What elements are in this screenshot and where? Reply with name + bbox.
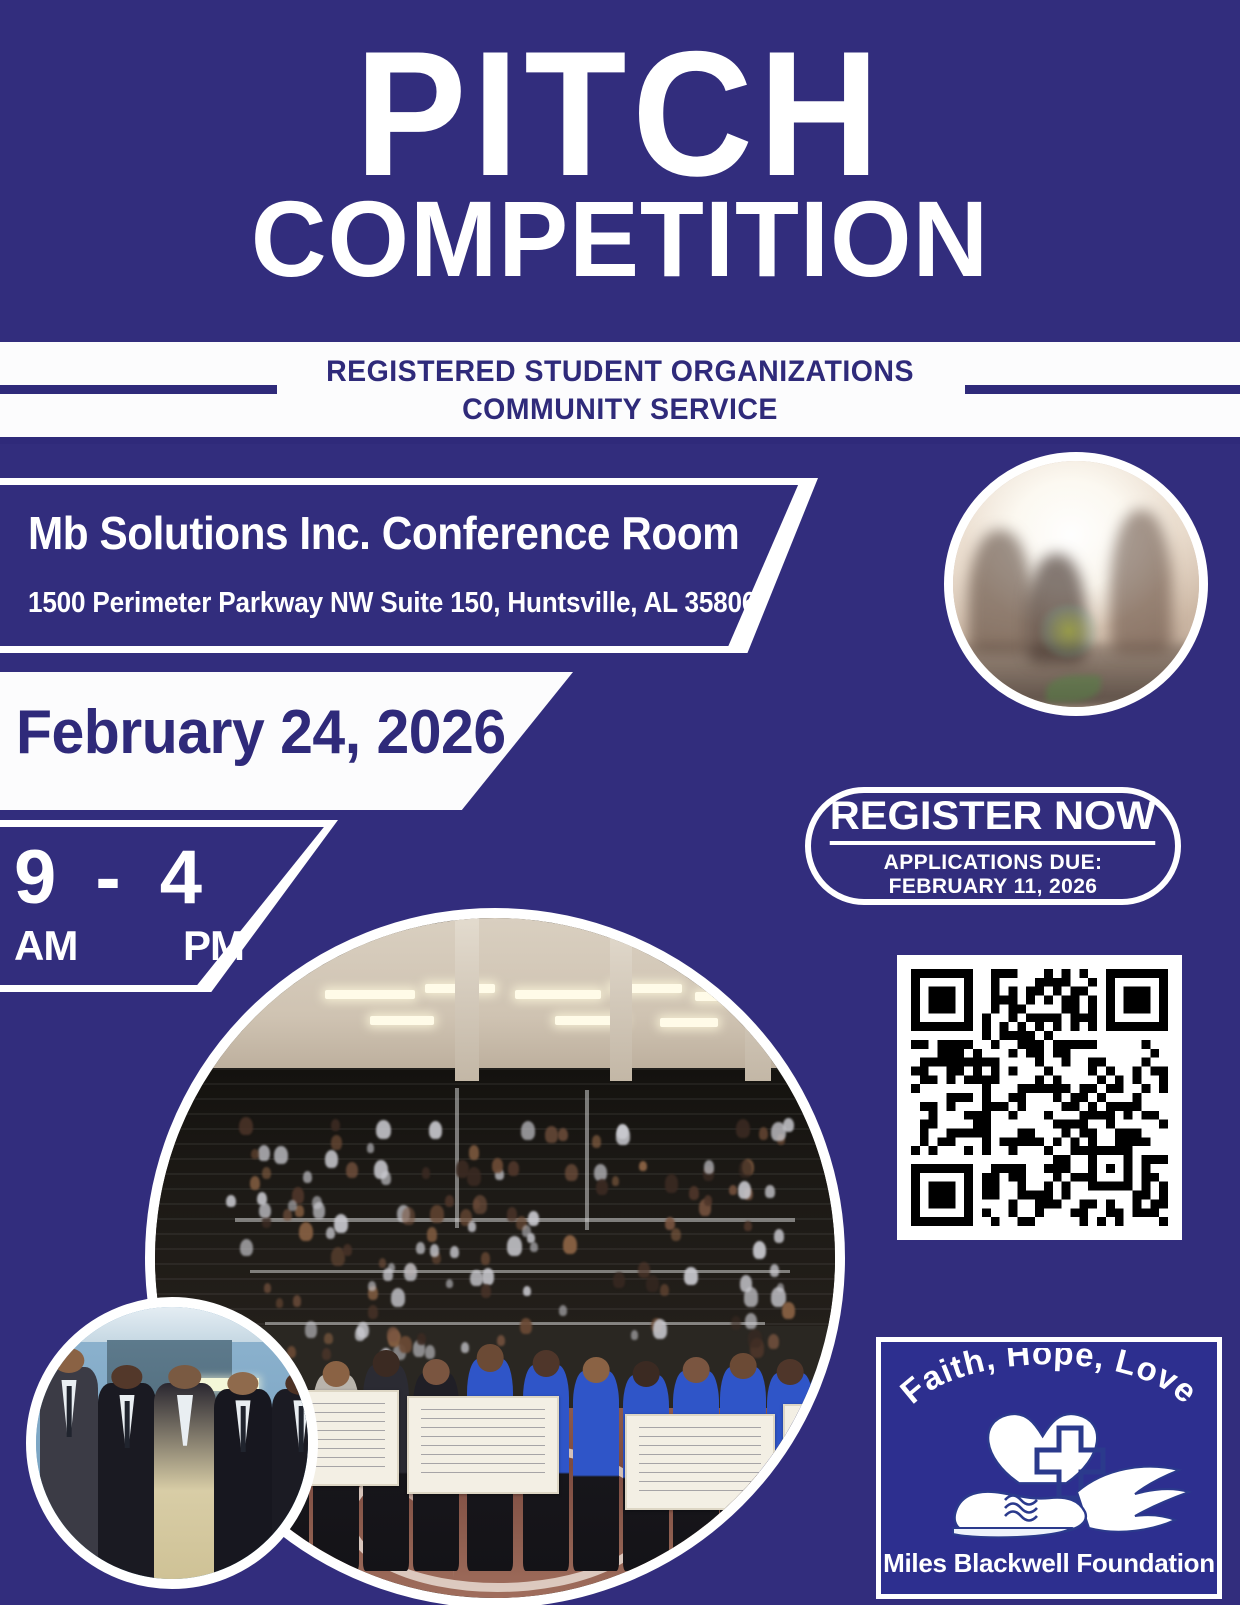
photo-spectator: [744, 1287, 759, 1307]
photo-spectator: [417, 1333, 426, 1345]
photo-spectator: [660, 1284, 669, 1296]
photo-person: [214, 1389, 272, 1579]
photo-spectator: [563, 1235, 577, 1254]
photo-spectator: [507, 1236, 522, 1256]
photo-spectator: [367, 1143, 374, 1153]
photo-spectator: [402, 1207, 415, 1225]
photo-spectator: [404, 1263, 417, 1281]
photo-oversized-check: [783, 1404, 845, 1500]
photo-spectator: [731, 1316, 741, 1330]
qr-code[interactable]: [897, 955, 1182, 1240]
photo-column: [745, 918, 771, 1081]
photo-spectator: [736, 1119, 750, 1138]
photo-participant-head: [683, 1357, 710, 1383]
photo-participant-head: [777, 1359, 804, 1385]
photo-check-writing: [639, 1427, 762, 1497]
photo-spectator: [325, 1150, 338, 1168]
photo-oversized-check: [625, 1414, 775, 1510]
subtitle-line-1: REGISTERED STUDENT ORGANIZATIONS: [31, 353, 1209, 391]
photo-spectator: [387, 1327, 398, 1342]
photo-spectator: [312, 1196, 322, 1209]
photo-spectator: [545, 1126, 558, 1143]
event-date: February 24, 2026: [16, 698, 506, 768]
photo-spectator: [631, 1330, 638, 1340]
photo-spectator: [274, 1146, 288, 1164]
photo-spectator: [430, 1205, 443, 1223]
photo-person-head: [111, 1365, 142, 1389]
venue-block: Mb Solutions Inc. Conference Room 1500 P…: [0, 478, 818, 653]
band-bottom-divider: [0, 437, 1240, 444]
photo-lens-flare: [1037, 604, 1101, 658]
photo-handrail: [455, 1088, 459, 1228]
photo-spectator: [430, 1244, 439, 1257]
subtitle-band: REGISTERED STUDENT ORGANIZATIONS COMMUNI…: [0, 342, 1240, 443]
photo-spectator: [646, 1275, 659, 1292]
photo-spectator: [250, 1176, 260, 1190]
photo-spectator: [745, 1313, 757, 1330]
photo-spectator: [521, 1121, 535, 1140]
applications-due-label: APPLICATIONS DUE:: [884, 851, 1103, 875]
photo-participant-head: [817, 1361, 844, 1386]
photo-person-tie: [125, 1401, 130, 1448]
photo-spectator: [251, 1149, 259, 1159]
conference-room-photo: [944, 452, 1208, 716]
photo-ceiling-light: [660, 1018, 718, 1027]
page-title-secondary: COMPETITION: [19, 185, 1222, 293]
photo-spectator: [638, 1262, 650, 1278]
photo-spectator: [774, 1229, 784, 1242]
photo-spectator: [508, 1161, 520, 1177]
photo-spectator: [469, 1145, 480, 1159]
photo-spectator: [425, 1345, 436, 1359]
photo-spectator: [592, 1135, 601, 1148]
photo-spectator: [391, 1288, 405, 1307]
qr-code-canvas: [911, 969, 1168, 1226]
photo-spectator: [771, 1122, 785, 1142]
photo-spectator: [446, 1279, 453, 1289]
photo-spectator: [379, 1258, 387, 1268]
applications-due-date: FEBRUARY 11, 2026: [889, 875, 1098, 899]
photo-spectator: [507, 1207, 517, 1221]
photo-spectator: [331, 1135, 342, 1151]
photo-spectator: [738, 1181, 751, 1199]
photo-spectator: [388, 1263, 395, 1273]
photo-participant-head: [533, 1350, 560, 1377]
photo-participant-head: [843, 1361, 845, 1386]
photo-participant-head: [730, 1353, 757, 1380]
flyer-canvas: PITCH COMPETITION REGISTERED STUDENT ORG…: [0, 0, 1240, 1605]
photo-spectator: [671, 1228, 681, 1242]
photo-spectator: [704, 1195, 712, 1206]
photo-spectator: [520, 1318, 532, 1334]
photo-column: [610, 918, 632, 1081]
foundation-logo: Faith, Hope, Love Miles Blackwell Founda…: [876, 1337, 1222, 1599]
photo-participant-head: [423, 1359, 450, 1385]
photo-participant-head: [477, 1344, 504, 1372]
photo-spectator: [467, 1167, 481, 1186]
photo-spectator: [376, 1120, 391, 1140]
photo-spectator: [482, 1268, 494, 1285]
photo-ceiling-light: [325, 990, 415, 999]
photo-spectator: [768, 1334, 779, 1349]
photo-spectator: [497, 1335, 505, 1346]
photo-spectator: [299, 1222, 313, 1241]
photo-column: [455, 918, 479, 1081]
subtitle-line-2: COMMUNITY SERVICE: [31, 391, 1209, 429]
photo-participant-head: [323, 1361, 350, 1386]
conference-room-photo-scene: [953, 461, 1199, 707]
photo-spectator: [481, 1252, 491, 1265]
photo-person-tie: [241, 1406, 246, 1452]
photo-spectator: [293, 1295, 302, 1307]
photo-spectator: [461, 1342, 469, 1353]
photo-oversized-check: [407, 1396, 559, 1494]
photo-spectator: [753, 1241, 766, 1259]
photo-handrail: [250, 1270, 790, 1273]
photo-spectator: [368, 1305, 378, 1319]
team-portrait-photo: [26, 1297, 318, 1589]
photo-spectator: [334, 1214, 348, 1233]
photo-spectator: [429, 1121, 442, 1139]
photo-spectator: [262, 1167, 271, 1179]
photo-spectator: [612, 1176, 619, 1186]
photo-spectator: [240, 1239, 253, 1257]
photo-spectator: [527, 1233, 534, 1243]
photo-spectator: [368, 1281, 376, 1292]
photo-person: [40, 1367, 98, 1579]
photo-spectator: [324, 1333, 332, 1344]
photo-spectator: [739, 1160, 753, 1179]
photo-ceiling: [36, 1307, 308, 1342]
photo-spectator: [528, 1211, 539, 1225]
photo-person-head: [168, 1365, 201, 1389]
photo-spectator: [653, 1319, 668, 1339]
photo-spectator: [257, 1192, 267, 1205]
photo-spectator: [322, 1348, 331, 1360]
photo-figure: [968, 530, 1032, 653]
photo-spectator: [559, 1305, 567, 1316]
photo-person-head: [227, 1372, 258, 1395]
venue-address: 1500 Perimeter Parkway NW Suite 150, Hun…: [28, 587, 756, 619]
photo-spectator: [239, 1117, 253, 1135]
hero-header: PITCH COMPETITION: [0, 0, 1240, 342]
photo-spectator: [450, 1246, 459, 1258]
photo-spectator: [381, 1171, 391, 1184]
photo-check-writing: [421, 1409, 545, 1480]
photo-person: [98, 1383, 156, 1579]
photo-participant-head: [583, 1357, 610, 1383]
photo-figure: [1110, 510, 1172, 653]
photo-person-tie: [299, 1406, 304, 1452]
photo-participant-head: [373, 1350, 400, 1377]
photo-spectator: [416, 1242, 425, 1254]
photo-spectator: [530, 1242, 538, 1252]
winged-heart-cross-icon: [909, 1396, 1199, 1546]
photo-spectator: [596, 1179, 608, 1196]
team-portrait-photo-scene: [36, 1307, 308, 1579]
foundation-name: Miles Blackwell Foundation: [881, 1548, 1217, 1578]
photo-spectator: [303, 1171, 312, 1183]
photo-spectator: [665, 1174, 679, 1192]
event-time-start-meridiem: AM: [14, 923, 77, 969]
photo-spectator: [357, 1322, 369, 1338]
photo-spectator: [422, 1167, 431, 1179]
photo-person: [154, 1383, 216, 1579]
photo-spectator: [759, 1127, 768, 1140]
photo-spectator: [770, 1264, 780, 1277]
photo-spectator: [481, 1284, 491, 1298]
photo-check-writing: [796, 1417, 845, 1487]
photo-spectator: [613, 1272, 625, 1288]
photo-spectator: [473, 1195, 487, 1214]
photo-spectator: [470, 1270, 482, 1287]
register-now-badge[interactable]: REGISTER NOW APPLICATIONS DUE: FEBRUARY …: [805, 787, 1181, 905]
photo-participant: [573, 1371, 619, 1571]
photo-spectator: [765, 1185, 774, 1198]
photo-spectator: [258, 1145, 270, 1161]
page-title-primary: PITCH: [37, 28, 1203, 200]
photo-spectator: [558, 1128, 568, 1141]
photo-participant-head: [633, 1361, 660, 1386]
photo-spectator: [565, 1164, 578, 1181]
venue-name: Mb Solutions Inc. Conference Room: [28, 507, 739, 559]
photo-handrail: [585, 1090, 589, 1230]
photo-spectator: [729, 1185, 737, 1195]
photo-handrail: [265, 1322, 765, 1325]
photo-spectator: [616, 1126, 630, 1145]
photo-ceiling-light: [515, 990, 601, 999]
photo-person-shirt: [177, 1395, 193, 1446]
photo-spectator: [399, 1336, 411, 1353]
photo-person-head: [53, 1348, 84, 1373]
photo-spectator: [492, 1158, 503, 1173]
register-now-label: REGISTER NOW: [830, 794, 1156, 845]
photo-spectator: [343, 1244, 352, 1256]
photo-spectator: [523, 1286, 531, 1297]
photo-spectator: [331, 1119, 340, 1131]
photo-spectator: [684, 1267, 697, 1285]
photo-spectator: [288, 1200, 297, 1212]
photo-ceiling-light: [370, 1016, 434, 1025]
event-time-range: 9 - 4: [14, 836, 211, 920]
photo-spectator: [346, 1162, 358, 1178]
photo-spectator: [689, 1186, 699, 1199]
photo-spectator: [427, 1227, 438, 1241]
photo-spectator: [226, 1195, 236, 1208]
photo-person-tie: [67, 1386, 72, 1437]
photo-spectator: [744, 1221, 751, 1231]
photo-spectator: [264, 1283, 271, 1293]
photo-spectator: [468, 1221, 476, 1232]
photo-spectator: [704, 1160, 714, 1174]
photo-spectator: [445, 1195, 454, 1207]
event-date-block: February 24, 2026: [0, 672, 573, 810]
photo-spectator: [748, 1329, 762, 1348]
photo-spectator: [782, 1302, 794, 1319]
photo-spectator: [639, 1161, 647, 1171]
photo-spectator: [326, 1227, 335, 1239]
